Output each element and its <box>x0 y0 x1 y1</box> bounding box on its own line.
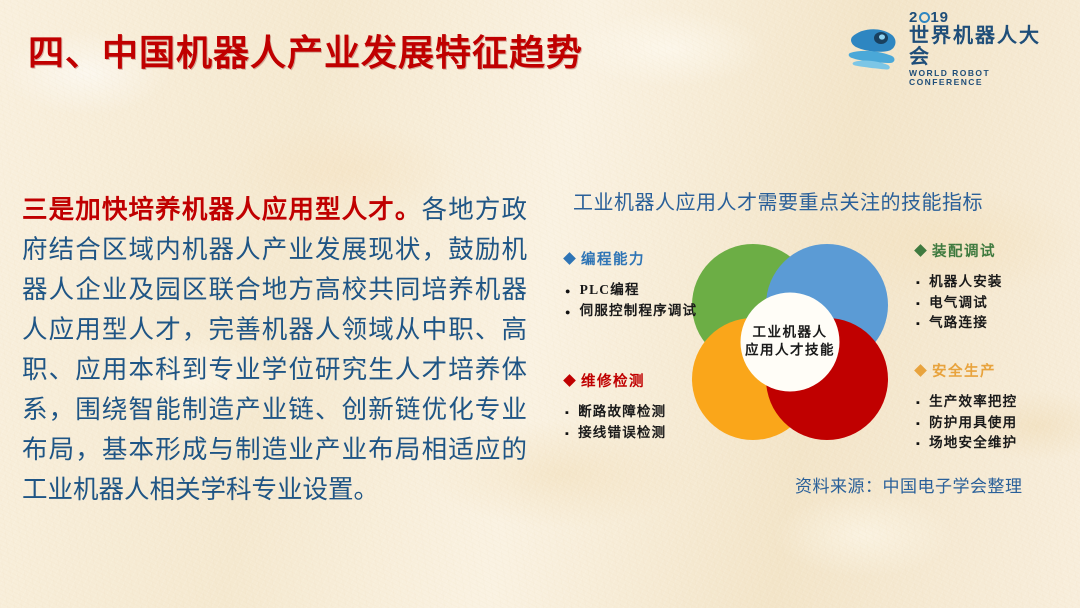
diamond-bullet-icon <box>914 244 927 257</box>
callout-assembly-item-1: 机器人安装 <box>929 274 1003 290</box>
callout-safety-item-1: 生产效率把控 <box>929 394 1017 410</box>
callout-maintenance: 维修检测 断路故障检测 接线错误检测 <box>565 370 735 440</box>
callout-maintenance-item-2: 接线错误检测 <box>578 425 666 441</box>
callout-programming-title: 编程能力 <box>565 248 735 269</box>
callout-assembly-item-3: 气路连接 <box>929 315 988 331</box>
diamond-bullet-icon <box>563 374 576 387</box>
callout-maintenance-title: 维修检测 <box>565 370 735 391</box>
callout-assembly-title-text: 装配调试 <box>932 240 996 261</box>
list-item: 机器人安装 <box>916 274 1080 290</box>
callout-safety-title: 安全生产 <box>916 360 1080 381</box>
callout-programming-list: PLC编程 伺服控制程序调试 <box>565 282 735 318</box>
list-item: 场地安全维护 <box>916 435 1080 451</box>
callout-programming-item-1: PLC编程 <box>580 282 640 298</box>
callout-maintenance-item-1: 断路故障检测 <box>578 404 666 420</box>
logo-year-text: 219 <box>909 9 949 26</box>
list-item: 防护用具使用 <box>916 415 1080 431</box>
callout-programming-title-text: 编程能力 <box>581 248 645 269</box>
body-paragraph-text: 各地方政府结合区域内机器人产业发展现状，鼓励机器人企业及园区联合地方高校共同培养… <box>22 196 527 504</box>
logo-name-en: WORLD ROBOT CONFERENCE <box>909 69 1062 86</box>
callout-programming: 编程能力 PLC编程 伺服控制程序调试 <box>565 248 735 318</box>
diagram-heading: 工业机器人应用人才需要重点关注的技能指标 <box>573 186 983 215</box>
list-item: 接线错误检测 <box>565 425 735 441</box>
callout-safety-item-3: 场地安全维护 <box>929 435 1017 451</box>
source-note: 资料来源：中国电子学会整理 <box>795 472 1023 497</box>
list-item: 伺服控制程序调试 <box>565 303 735 319</box>
callout-assembly-title: 装配调试 <box>916 240 1080 261</box>
callout-maintenance-list: 断路故障检测 接线错误检测 <box>565 404 735 440</box>
list-item: 断路故障检测 <box>565 404 735 420</box>
list-item: 生产效率把控 <box>916 394 1080 410</box>
callout-assembly-list: 机器人安装 电气调试 气路连接 <box>916 274 1080 331</box>
venn-center-label: 工业机器人 应用人才技能 <box>741 293 840 392</box>
list-item: PLC编程 <box>565 282 735 298</box>
venn-center-line-2: 应用人才技能 <box>745 344 835 359</box>
logo-name-cn: 世界机器人大会 <box>909 26 1062 68</box>
venn-center-line-1: 工业机器人 <box>753 326 828 341</box>
diamond-bullet-icon <box>563 252 576 265</box>
diamond-bullet-icon <box>914 364 927 377</box>
callout-assembly-item-2: 电气调试 <box>929 295 988 311</box>
list-item: 气路连接 <box>916 315 1080 331</box>
body-lead-sentence: 三是加快培养机器人应用型人才。 <box>22 196 422 224</box>
callout-safety-item-2: 防护用具使用 <box>929 415 1017 431</box>
logo-year: 219 <box>909 10 1062 25</box>
list-item: 电气调试 <box>916 295 1080 311</box>
callout-safety: 安全生产 生产效率把控 防护用具使用 场地安全维护 <box>916 360 1080 451</box>
callout-maintenance-title-text: 维修检测 <box>581 370 645 391</box>
slide-canvas: 四、中国机器人产业发展特征趋势 219 世界机器人大会 WORLD ROBOT … <box>0 0 1080 608</box>
body-paragraph: 三是加快培养机器人应用型人才。各地方政府结合区域内机器人产业发展现状，鼓励机器人… <box>22 190 527 510</box>
robot-head-icon <box>848 25 902 71</box>
callout-programming-item-2: 伺服控制程序调试 <box>580 303 698 319</box>
page-title: 四、中国机器人产业发展特征趋势 <box>28 24 583 76</box>
callout-assembly: 装配调试 机器人安装 电气调试 气路连接 <box>916 240 1080 331</box>
logo-wordmark: 219 世界机器人大会 WORLD ROBOT CONFERENCE <box>909 10 1062 86</box>
callout-safety-title-text: 安全生产 <box>932 360 996 381</box>
conference-logo: 219 世界机器人大会 WORLD ROBOT CONFERENCE <box>848 20 1062 76</box>
callout-safety-list: 生产效率把控 防护用具使用 场地安全维护 <box>916 394 1080 451</box>
